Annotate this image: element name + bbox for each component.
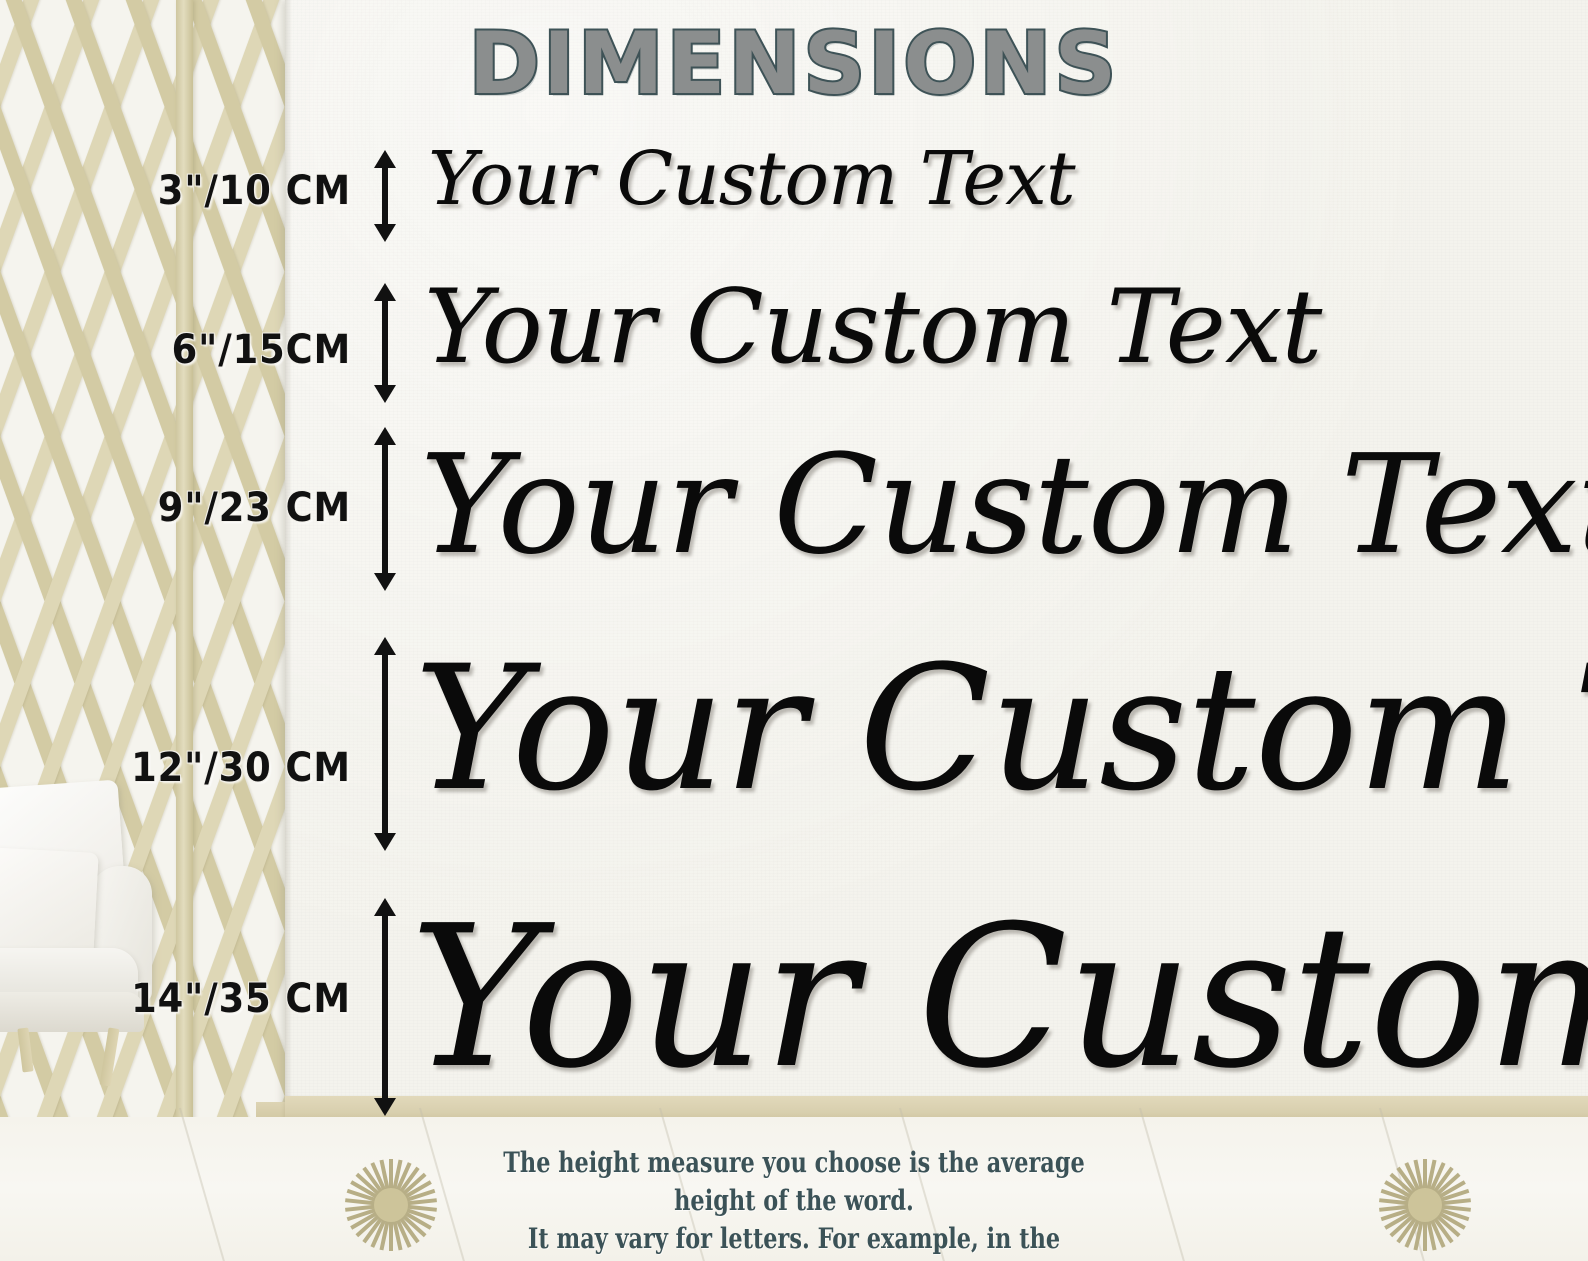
- dimensions-infographic: DIMENSIONS 3"/10 CM Your Custom Text 6"/…: [0, 0, 1588, 1261]
- dimension-arrow-14in: [374, 898, 396, 1116]
- script-sample-6in: Your Custom Text: [424, 268, 1321, 387]
- script-sample-12in: Your Custom Text: [414, 628, 1588, 829]
- dimension-label-9in: 9"/23 CM: [158, 485, 351, 531]
- sunburst-left-icon: [338, 1152, 444, 1258]
- sunburst-core: [374, 1188, 408, 1222]
- footer-note: The height measure you choose is the ave…: [474, 1144, 1114, 1261]
- dimension-label-12in: 12"/30 CM: [131, 745, 351, 791]
- dimension-label-3in: 3"/10 CM: [158, 168, 351, 214]
- sofa-base: [0, 992, 144, 1032]
- script-sample-3in: Your Custom Text: [428, 136, 1075, 222]
- footer-note-line-1: The height measure you choose is the ave…: [474, 1144, 1114, 1220]
- pillow-front-icon: [0, 847, 99, 957]
- dimension-arrow-6in: [374, 283, 396, 403]
- dimension-arrow-12in: [374, 637, 396, 851]
- page-title: DIMENSIONS: [0, 14, 1588, 114]
- floor-plank: [1139, 1108, 1196, 1261]
- script-sample-14in: Your Custom Text: [410, 884, 1588, 1112]
- footer-note-line-2: It may vary for letters. For example, in…: [474, 1220, 1114, 1261]
- dimension-arrow-9in: [374, 427, 396, 591]
- sunburst-core: [1408, 1188, 1442, 1222]
- dimension-arrow-3in: [374, 150, 396, 242]
- dimension-label-6in: 6"/15CM: [171, 327, 351, 373]
- dimension-label-14in: 14"/35 CM: [131, 976, 351, 1022]
- sofa: [0, 776, 226, 1076]
- floor-plank: [179, 1108, 236, 1261]
- sofa-leg: [17, 1027, 33, 1072]
- script-sample-9in: Your Custom Text: [420, 426, 1588, 585]
- sunburst-right-icon: [1372, 1152, 1478, 1258]
